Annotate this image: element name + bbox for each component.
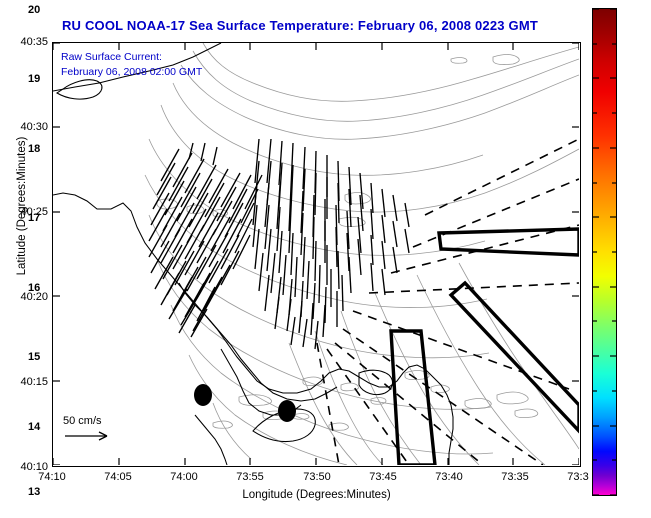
cb-tick-7: 13 <box>28 486 40 498</box>
cb-tick-1: 19 <box>28 73 40 85</box>
cb-tick-3: 17 <box>28 212 40 224</box>
y-tick-5: 40:10 <box>4 461 48 473</box>
x-tick-6: 73:40 <box>435 471 463 483</box>
colorbar[interactable] <box>592 8 617 496</box>
colorbar-tick-marks <box>593 9 616 495</box>
axis-tick-marks <box>53 43 579 465</box>
y-axis-label: Latitude (Degrees:Minutes) <box>16 96 28 316</box>
x-tick-3: 73:55 <box>236 471 264 483</box>
cb-tick-6: 14 <box>28 421 40 433</box>
cb-tick-4: 16 <box>28 282 40 294</box>
map-plot-area[interactable]: Raw Surface Current: February 06, 2008 0… <box>52 42 581 467</box>
cb-tick-2: 18 <box>28 143 40 155</box>
x-tick-2: 74:00 <box>170 471 198 483</box>
x-tick-4: 73:50 <box>303 471 331 483</box>
cb-tick-5: 15 <box>28 351 40 363</box>
cb-tick-0: 20 <box>28 4 40 16</box>
y-tick-4: 40:15 <box>4 376 48 388</box>
x-tick-7: 73:35 <box>501 471 529 483</box>
x-tick-8: 73:3 <box>567 471 588 483</box>
x-tick-1: 74:05 <box>104 471 132 483</box>
y-tick-0: 40:35 <box>4 36 48 48</box>
x-axis-label: Longitude (Degrees:Minutes) <box>52 489 581 501</box>
x-tick-5: 73:45 <box>369 471 397 483</box>
figure-title: RU COOL NOAA-17 Sea Surface Temperature:… <box>0 18 600 33</box>
figure-canvas: RU COOL NOAA-17 Sea Surface Temperature:… <box>0 0 651 518</box>
